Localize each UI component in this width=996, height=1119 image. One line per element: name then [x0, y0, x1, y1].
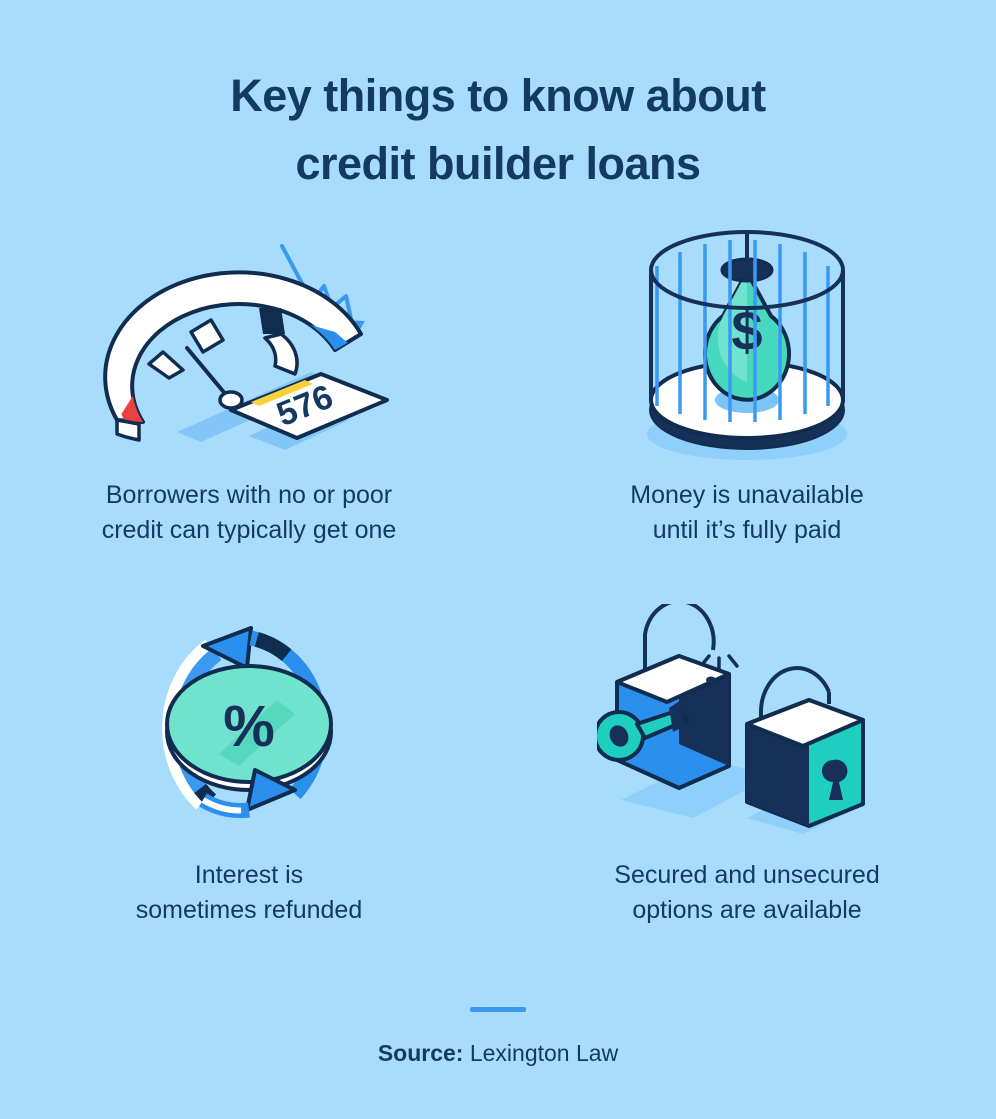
- credit-score-gauge-icon: 576: [99, 224, 399, 464]
- title-line-2: credit builder loans: [0, 130, 996, 198]
- fact-card-money-locked: $: [498, 224, 996, 548]
- infographic-root: Key things to know about credit builder …: [0, 0, 996, 1119]
- fact-card-secured-options: Secured and unsecured options are availa…: [498, 604, 996, 928]
- percent-refresh-icon: %: [99, 604, 399, 844]
- footer: Source: Lexington Law: [0, 1007, 996, 1067]
- source-attribution: Source: Lexington Law: [0, 1040, 996, 1067]
- fact-card-credit-score: 576 Borrowers with no or poor credit can…: [0, 224, 498, 548]
- footer-divider: [470, 1007, 526, 1012]
- open-padlock: [597, 604, 737, 788]
- caption-line-2: until it’s fully paid: [630, 513, 863, 548]
- fact-caption: Secured and unsecured options are availa…: [614, 858, 879, 928]
- page-title: Key things to know about credit builder …: [0, 0, 996, 198]
- fact-grid: 576 Borrowers with no or poor credit can…: [0, 224, 996, 928]
- percent-disc: %: [167, 666, 331, 790]
- caged-money-bag-icon: $: [597, 224, 897, 464]
- closed-padlock: [747, 668, 863, 826]
- caption-line-1: Money is unavailable: [630, 478, 863, 513]
- caption-line-2: sometimes refunded: [136, 893, 363, 928]
- source-name: Lexington Law: [470, 1040, 618, 1066]
- fact-caption: Money is unavailable until it’s fully pa…: [630, 478, 863, 548]
- money-bag: $: [705, 259, 789, 400]
- caption-line-1: Interest is: [136, 858, 363, 893]
- fact-caption: Borrowers with no or poor credit can typ…: [102, 478, 397, 548]
- caption-line-1: Borrowers with no or poor: [102, 478, 397, 513]
- title-line-1: Key things to know about: [0, 62, 996, 130]
- source-label: Source:: [378, 1040, 464, 1066]
- fact-caption: Interest is sometimes refunded: [136, 858, 363, 928]
- caption-line-2: credit can typically get one: [102, 513, 397, 548]
- fact-card-interest-refund: % Interest is sometimes refunded: [0, 604, 498, 928]
- caption-line-2: options are available: [614, 893, 879, 928]
- percent-symbol: %: [223, 694, 275, 759]
- caption-line-1: Secured and unsecured: [614, 858, 879, 893]
- padlocks-secured-unsecured-icon: [597, 604, 897, 844]
